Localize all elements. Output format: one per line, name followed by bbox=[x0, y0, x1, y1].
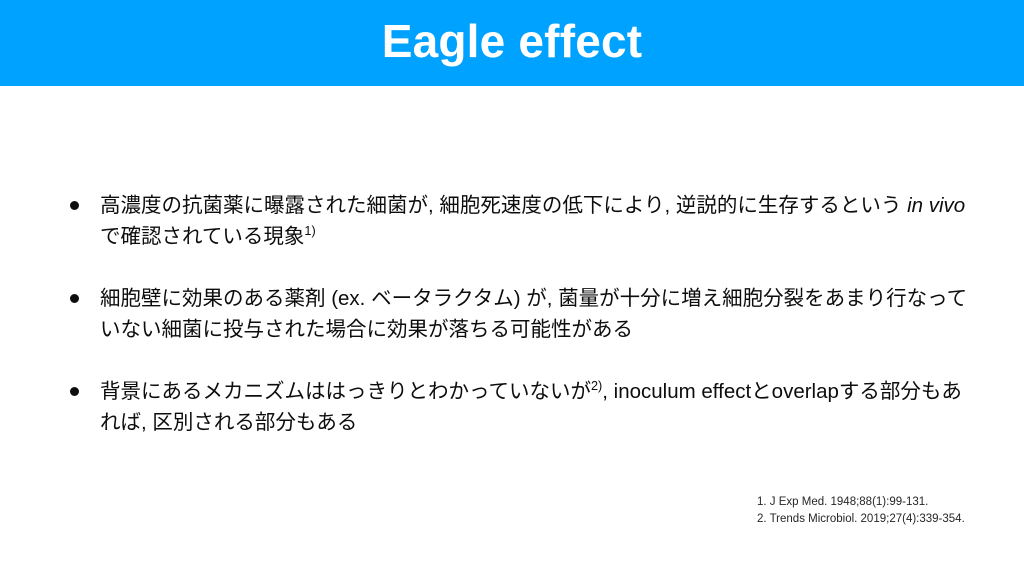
bullet-dot-icon bbox=[70, 294, 79, 303]
bullet-1-segment-post: で確認されている現象 bbox=[100, 225, 304, 248]
reference-marker-1: 1) bbox=[304, 223, 315, 238]
title-band: Eagle effect bbox=[0, 0, 1024, 86]
list-item: 高濃度の抗菌薬に曝露された細菌が, 細胞死速度の低下により, 逆説的に生存すると… bbox=[68, 190, 968, 252]
footnote-item: 1. J Exp Med. 1948;88(1):99-131. bbox=[757, 494, 1007, 511]
bullet-dot-icon bbox=[70, 201, 79, 210]
bullet-list: 高濃度の抗菌薬に曝露された細菌が, 細胞死速度の低下により, 逆説的に生存すると… bbox=[68, 190, 968, 438]
list-item-text: 背景にあるメカニズムははっきりとわかっていないが2), inoculum eff… bbox=[100, 376, 968, 438]
list-item: 細胞壁に効果のある薬剤 (ex. ベータラクタム) が, 菌量が十分に増え細胞分… bbox=[68, 283, 968, 345]
footnote-list: 1. J Exp Med. 1948;88(1):99-131. 2. Tren… bbox=[757, 494, 1007, 528]
list-item: 背景にあるメカニズムははっきりとわかっていないが2), inoculum eff… bbox=[68, 376, 968, 438]
reference-marker-2: 2) bbox=[591, 378, 602, 393]
slide-body: 高濃度の抗菌薬に曝露された細菌が, 細胞死速度の低下により, 逆説的に生存すると… bbox=[0, 86, 1024, 576]
page-title: Eagle effect bbox=[382, 18, 643, 68]
bullet-dot-icon bbox=[70, 387, 79, 396]
bullet-3-segment-pre: 背景にあるメカニズムははっきりとわかっていないが bbox=[100, 380, 591, 403]
bullet-1-italic-term: in vivo bbox=[907, 194, 965, 217]
list-item-text: 細胞壁に効果のある薬剤 (ex. ベータラクタム) が, 菌量が十分に増え細胞分… bbox=[100, 283, 968, 345]
footnote-item: 2. Trends Microbiol. 2019;27(4):339-354. bbox=[757, 511, 1007, 528]
list-item-text: 高濃度の抗菌薬に曝露された細菌が, 細胞死速度の低下により, 逆説的に生存すると… bbox=[100, 190, 968, 252]
bullet-1-segment-pre: 高濃度の抗菌薬に曝露された細菌が, 細胞死速度の低下により, 逆説的に生存すると… bbox=[100, 194, 907, 217]
